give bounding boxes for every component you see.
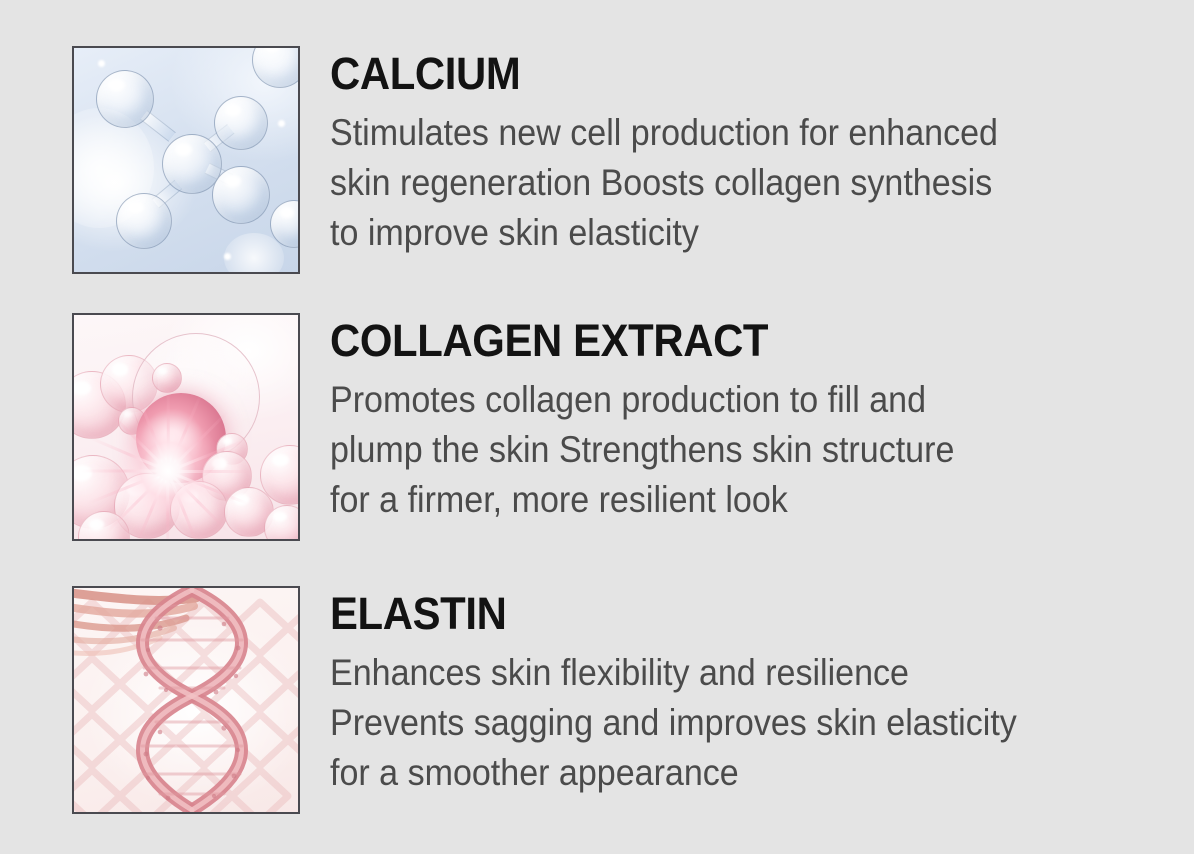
description-line: plump the skin Strengthens skin structur… [330,425,1125,475]
elastin-description: Enhances skin flexibility and resilience… [330,648,1125,798]
page-title-elastin: ELASTIN [330,588,1134,640]
description-line: Enhances skin flexibility and resilience [330,648,1125,698]
elastin-dna-helix-image [74,588,298,812]
bubble-icon [170,481,228,539]
calcium-molecule-bubbles-image [74,48,298,272]
description-line: skin regeneration Boosts collagen synthe… [330,158,1125,208]
collagen-bubbles-image [74,315,298,539]
collagen-extract-thumbnail [72,313,300,541]
collagen-extract-text-column: COLLAGEN EXTRACT Promotes collagen produ… [330,313,1194,525]
bubble-icon [152,363,182,393]
description-line: for a smoother appearance [330,748,1125,798]
page-title-calcium: CALCIUM [330,48,1134,100]
collagen-extract-description: Promotes collagen production to fill and… [330,375,1125,525]
elastin-thumbnail [72,586,300,814]
description-line: Stimulates new cell production for enhan… [330,108,1125,158]
bubble-icon [96,70,154,128]
bubble-icon [252,48,298,88]
calcium-thumbnail [72,46,300,274]
ingredient-row-elastin: ELASTIN Enhances skin flexibility and re… [0,586,1194,814]
dna-double-helix-icon [74,588,298,812]
bubble-icon [214,96,268,150]
bubble-icon [116,193,172,249]
calcium-description: Stimulates new cell production for enhan… [330,108,1125,258]
description-line: Promotes collagen production to fill and [330,375,1125,425]
ingredient-row-calcium: CALCIUM Stimulates new cell production f… [0,46,1194,274]
elastin-text-column: ELASTIN Enhances skin flexibility and re… [330,586,1194,798]
description-line: for a firmer, more resilient look [330,475,1125,525]
description-line: to improve skin elasticity [330,208,1125,258]
bubble-icon [212,166,270,224]
calcium-text-column: CALCIUM Stimulates new cell production f… [330,46,1194,258]
ingredient-row-collagen-extract: COLLAGEN EXTRACT Promotes collagen produ… [0,313,1194,541]
ingredient-benefits-panel: CALCIUM Stimulates new cell production f… [0,0,1194,854]
page-title-collagen-extract: COLLAGEN EXTRACT [330,315,1134,367]
description-line: Prevents sagging and improves skin elast… [330,698,1125,748]
